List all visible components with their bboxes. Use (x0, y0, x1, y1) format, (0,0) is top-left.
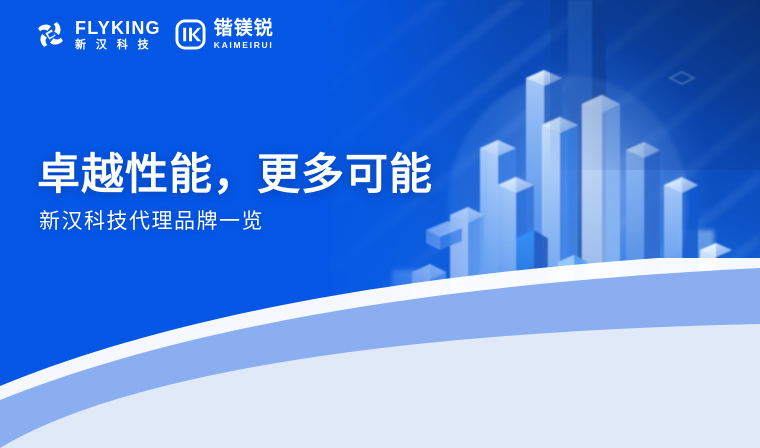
flyking-latin-name: FLYKING (75, 19, 161, 37)
banner-subtitle: 新汉科技代理品牌一览 (39, 205, 264, 235)
promo-banner: FLYKING 新 汉 科 技 锴镁锐 KAIMEIRUI 卓越性能，更多可能 … (0, 0, 760, 448)
logo-row: FLYKING 新 汉 科 技 锴镁锐 KAIMEIRUI (34, 18, 274, 51)
banner-headline: 卓越性能，更多可能 (37, 140, 433, 202)
kaimeirui-k-mark (175, 19, 206, 50)
decorative-curve-bands (0, 258, 760, 448)
flyking-chinese-name: 新 汉 科 技 (75, 40, 161, 51)
background-topright-shade (550, 0, 760, 170)
kaimeirui-latin-name: KAIMEIRUI (214, 41, 274, 50)
kaimeirui-logo[interactable]: 锴镁锐 KAIMEIRUI (175, 19, 274, 50)
flyking-logo[interactable]: FLYKING 新 汉 科 技 (34, 18, 161, 51)
flyking-propeller-mark (34, 18, 67, 51)
kaimeirui-chinese-name: 锴镁锐 (214, 19, 274, 38)
